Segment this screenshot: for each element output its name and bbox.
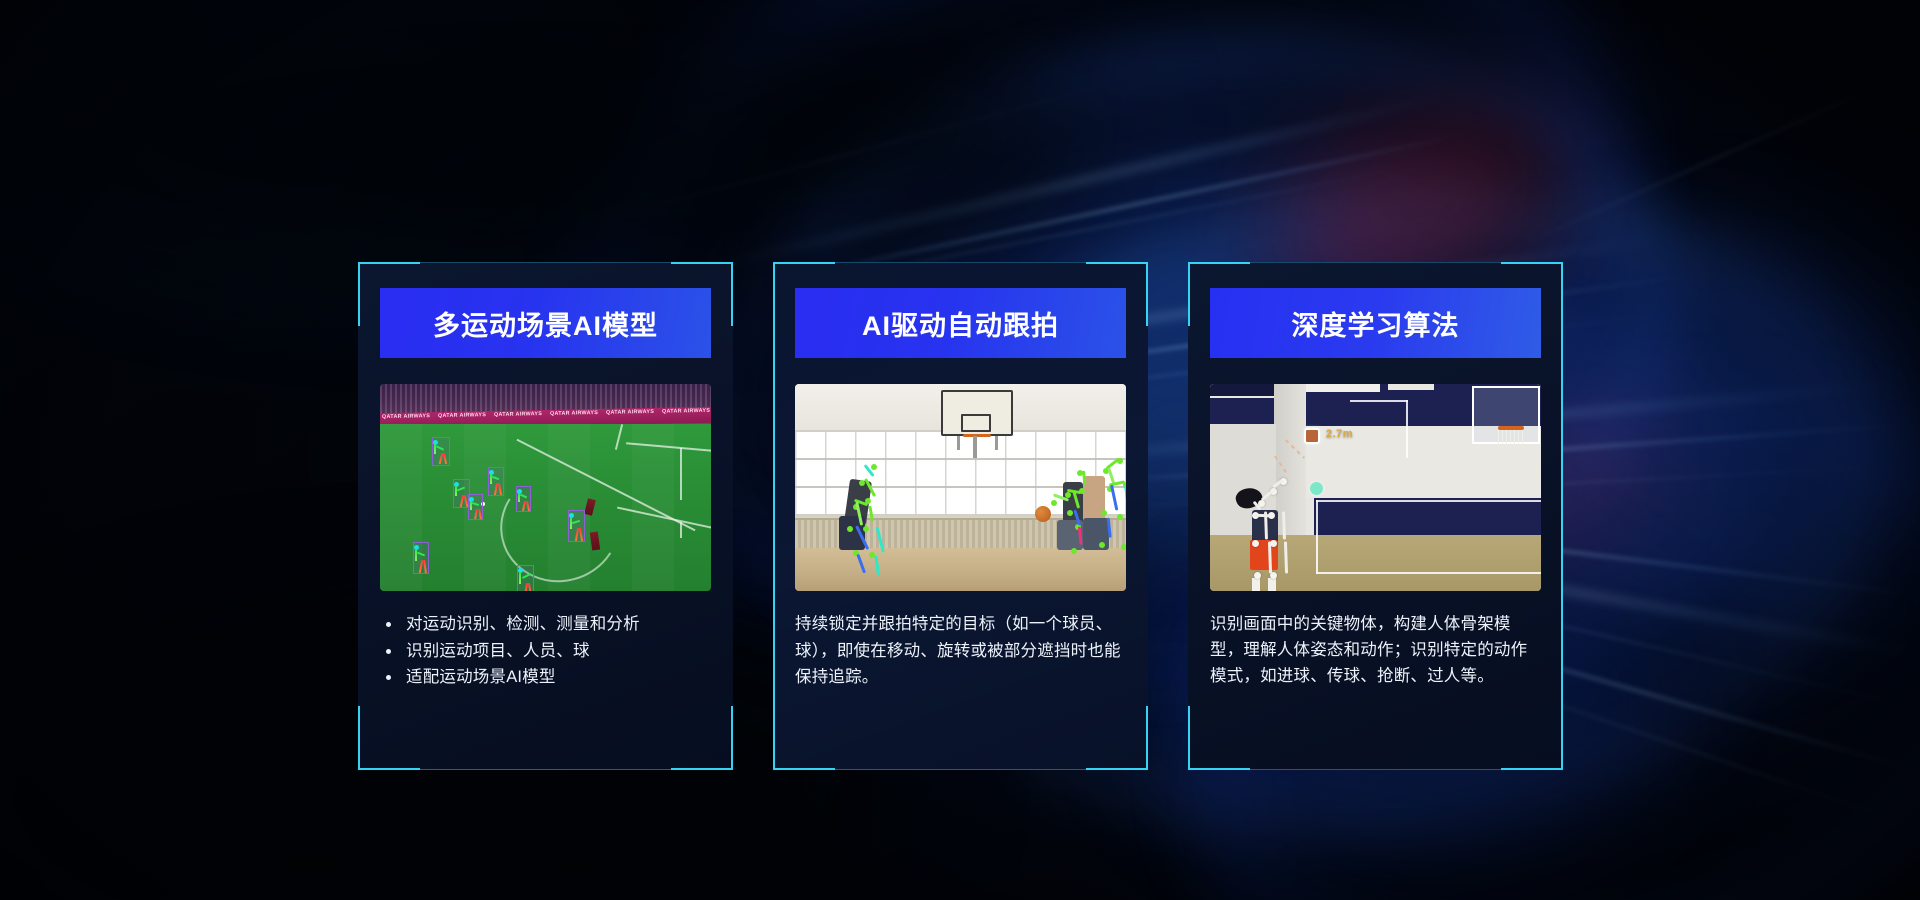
card-body: 对运动识别、检测、测量和分析 识别运动项目、人员、球 适配运动场景AI模型 [380,611,711,691]
corner-bracket-right-bottom [731,706,733,770]
card-title: 多运动场景AI模型 [433,304,658,343]
card-bottom-edge [1250,769,1501,770]
card-description: 持续锁定并跟拍特定的目标（如一个球员、球），即使在移动、旋转或被部分遮挡时也能保… [795,611,1126,691]
corner-bracket-right-top [731,262,733,326]
stadium-banner-text: QATAR AIRWAYS [438,412,486,419]
detection-box [413,542,429,574]
feature-bullet-list: 对运动识别、检测、测量和分析 识别运动项目、人员、球 适配运动场景AI模型 [380,611,711,691]
card-header: 多运动场景AI模型 [380,288,711,358]
corner-bracket-top-left [358,262,420,264]
card-header: 深度学习算法 [1210,288,1541,358]
hoop-rim [963,434,991,437]
backboard [941,390,1013,436]
card-left-border [773,262,775,770]
measurement-label: 2.7m [1326,428,1353,440]
stadium-banner-text: QATAR AIRWAYS [382,413,430,420]
list-item: 适配运动场景AI模型 [380,664,711,691]
measurement-guide [1316,500,1541,502]
feature-card-ai-auto-tracking[interactable]: AI驱动自动跟拍 [773,262,1148,770]
detection-box [516,486,531,512]
list-item: 识别运动项目、人员、球 [380,638,711,665]
corner-bracket-left-bottom [1188,706,1190,770]
card-media-court-measurement[interactable]: 2.7m [1210,384,1541,591]
card-body: 持续锁定并跟拍特定的目标（如一个球员、球），即使在移动、旋转或被部分遮挡时也能保… [795,611,1126,691]
corner-bracket-bottom-right [1501,768,1563,770]
stadium-banner-text: QATAR AIRWAYS [550,410,598,417]
slide-canvas: 多运动场景AI模型 QATAR AIRWAYS QATAR AIRWAYS QA… [0,0,1920,900]
card-top-edge [1250,262,1501,263]
card-media-soccer-detection[interactable]: QATAR AIRWAYS QATAR AIRWAYS QATAR AIRWAY… [380,384,711,591]
card-title: AI驱动自动跟拍 [862,304,1059,343]
corner-bracket-bottom-left [358,768,420,770]
card-title: 深度学习算法 [1292,304,1460,343]
corner-bracket-left-top [1188,262,1190,326]
feature-card-multi-sport-ai-model[interactable]: 多运动场景AI模型 QATAR AIRWAYS QATAR AIRWAYS QA… [358,262,733,770]
basketball [1035,506,1051,522]
card-right-border [1561,262,1563,770]
card-top-edge [420,262,671,263]
corner-bracket-top-right [671,262,733,264]
corner-bracket-bottom-right [1086,768,1148,770]
corner-bracket-bottom-left [773,768,835,770]
stadium-banner-text: QATAR AIRWAYS [606,409,654,416]
measurement-guide [1316,500,1318,574]
corner-bracket-bottom-left [1188,768,1250,770]
corner-bracket-left-bottom [358,706,360,770]
corner-bracket-right-bottom [1146,706,1148,770]
measurement-guide [1350,400,1408,402]
list-item: 对运动识别、检测、测量和分析 [380,611,711,638]
stadium-banner-text: QATAR AIRWAYS [494,411,542,418]
card-header: AI驱动自动跟拍 [795,288,1126,358]
measurement-guide [1316,572,1541,574]
corner-bracket-top-right [1501,262,1563,264]
feature-card-deep-learning-algorithm[interactable]: 深度学习算法 [1188,262,1563,770]
corner-bracket-top-left [1188,262,1250,264]
tracked-marker [1310,482,1323,495]
detection-box [468,494,483,520]
corner-bracket-bottom-right [671,768,733,770]
corner-bracket-top-left [773,262,835,264]
detection-box [517,565,534,591]
measurement-guide [1406,400,1408,458]
detection-box [432,437,450,466]
card-description: 识别画面中的关键物体，构建人体骨架模型，理解人体姿态和动作；识别特定的动作模式，… [1210,611,1541,689]
detection-box [568,510,585,542]
corner-bracket-left-top [358,262,360,326]
card-bottom-edge [420,769,671,770]
stadium-banner-text: QATAR AIRWAYS [662,408,710,415]
card-bottom-edge [835,769,1086,770]
tracked-object-box [1304,428,1320,444]
corner-bracket-top-right [1086,262,1148,264]
feature-card-row: 多运动场景AI模型 QATAR AIRWAYS QATAR AIRWAYS QA… [358,262,1562,770]
detection-box [488,467,504,496]
card-top-edge [835,262,1086,263]
card-media-gym-pose-estimation[interactable] [795,384,1126,591]
card-body: 识别画面中的关键物体，构建人体骨架模型，理解人体姿态和动作；识别特定的动作模式，… [1210,611,1541,689]
corner-bracket-right-top [1146,262,1148,326]
